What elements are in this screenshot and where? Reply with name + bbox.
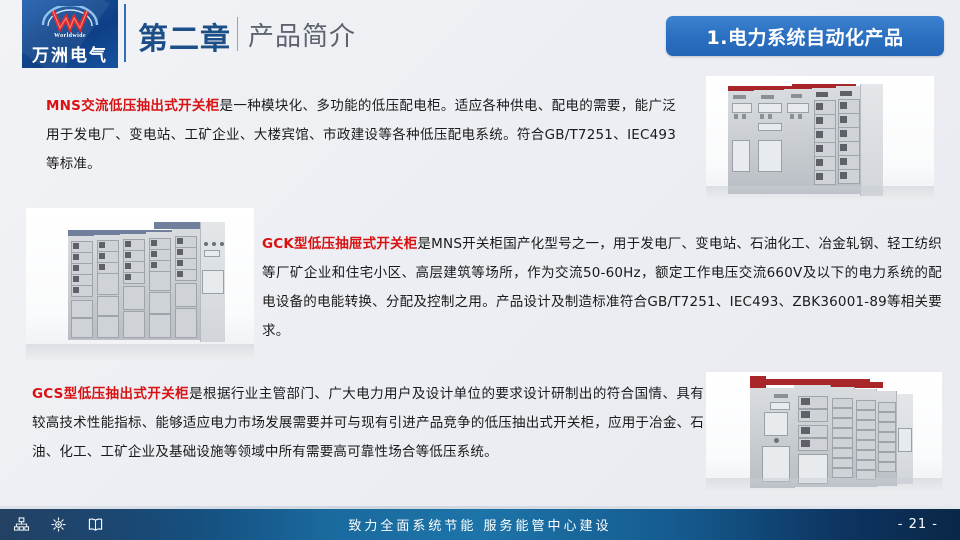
w-shield-icon bbox=[22, 5, 118, 35]
gck-paragraph-highlight: GCK型低压抽屉式开关柜 bbox=[262, 236, 417, 252]
slide-footer: 致力全面系统节能 服务能管中心建设 - 21 - bbox=[0, 509, 960, 540]
logo-company-name: 万洲电气 bbox=[22, 41, 118, 66]
chapter-title: 第二章 bbox=[138, 14, 231, 58]
gck-paragraph: GCK型低压抽屉式开关柜是MNS开关柜国产化型号之一，用于发电厂、变电站、石油化… bbox=[262, 230, 942, 346]
header-accent-bar bbox=[124, 4, 126, 62]
gcs-paragraph: GCS型低压抽出式开关柜是根据行业主管部门、广大电力用户及设计单位的要求设计研制… bbox=[32, 380, 704, 467]
section-badge[interactable]: 1.电力系统自动化产品 bbox=[666, 16, 944, 56]
page-subtitle: 产品简介 bbox=[248, 16, 356, 53]
slide-root: Worldwide 万洲电气 第二章 产品简介 1.电力系统自动化产品 MNS交… bbox=[0, 0, 960, 540]
footer-slogan: 致力全面系统节能 服务能管中心建设 bbox=[0, 509, 960, 540]
logo-sub-text: Worldwide bbox=[22, 33, 118, 39]
gcs-switchgear-photo bbox=[706, 372, 942, 494]
mns-paragraph-highlight: MNS交流低压抽出式开关柜 bbox=[46, 98, 220, 114]
slide-header: Worldwide 万洲电气 第二章 产品简介 1.电力系统自动化产品 bbox=[0, 0, 960, 70]
mns-switchgear-photo bbox=[706, 76, 934, 202]
company-logo: Worldwide 万洲电气 bbox=[22, 0, 118, 68]
mns-paragraph: MNS交流低压抽出式开关柜是一种模块化、多功能的低压配电柜。适应各种供电、配电的… bbox=[46, 92, 676, 179]
section-badge-label: 1.电力系统自动化产品 bbox=[707, 23, 904, 50]
title-separator bbox=[237, 17, 238, 51]
gck-switchgear-photo bbox=[26, 208, 254, 360]
gcs-paragraph-highlight: GCS型低压抽出式开关柜 bbox=[32, 386, 189, 402]
page-number: - 21 - bbox=[898, 509, 938, 540]
